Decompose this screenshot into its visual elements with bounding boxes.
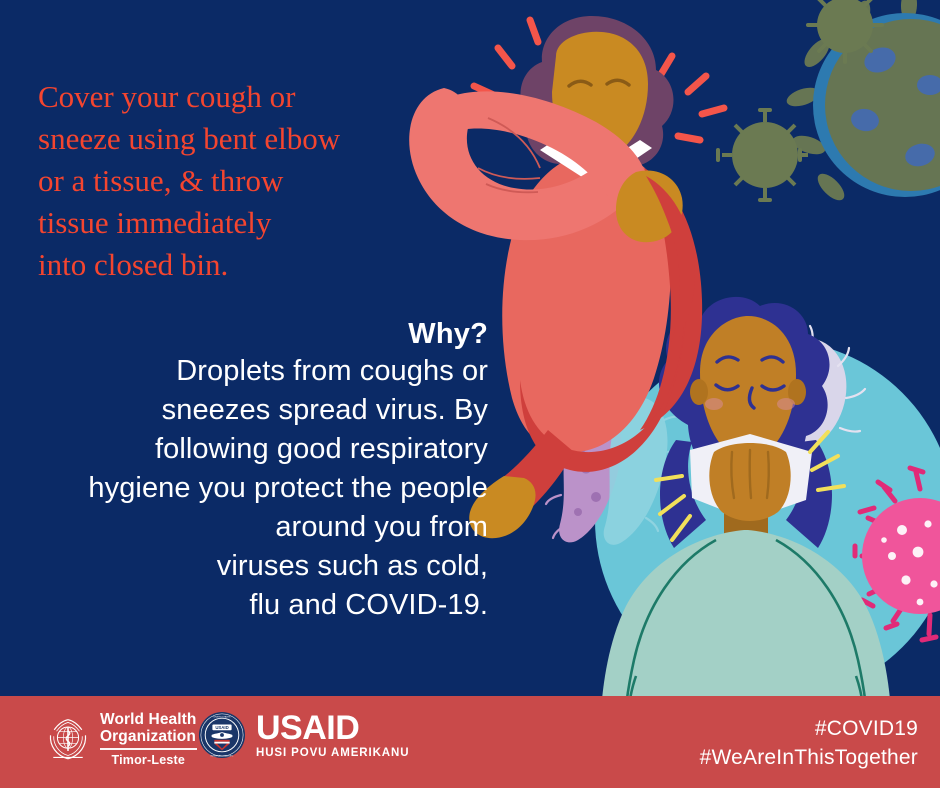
usaid-wordmark: USAID xyxy=(256,711,409,745)
why-label: Why? xyxy=(10,316,488,352)
who-logo: World Health Organization Timor-Leste xyxy=(45,712,197,767)
usaid-logo: USAID UNITED STATES INTERNATIONAL DEV. U… xyxy=(198,711,409,759)
who-country-label: Timor-Leste xyxy=(100,753,197,767)
why-body-text: Droplets from coughs or sneezes spread v… xyxy=(10,352,488,625)
poster: Cover your cough or sneeze using bent el… xyxy=(0,0,940,788)
hashtag-weareinthistogether: #WeAreInThisTogether xyxy=(700,743,918,772)
who-wordmark: World Health Organization Timor-Leste xyxy=(100,712,197,767)
hashtag-covid19: #COVID19 xyxy=(700,714,918,743)
usaid-tagline: HUSI POVU AMERIKANU xyxy=(256,747,409,759)
usaid-wordmark-block: USAID HUSI POVU AMERIKANU xyxy=(256,711,409,759)
who-divider xyxy=(100,748,197,750)
headline-text: Cover your cough or sneeze using bent el… xyxy=(38,76,468,286)
why-block: Why? Droplets from coughs or sneezes spr… xyxy=(10,316,488,625)
who-line1: World Health xyxy=(100,712,197,729)
svg-text:USAID: USAID xyxy=(215,725,228,730)
who-line2: Organization xyxy=(100,729,197,746)
usaid-seal-icon: USAID UNITED STATES INTERNATIONAL DEV. xyxy=(198,711,246,759)
hashtag-block: #COVID19 #WeAreInThisTogether xyxy=(700,714,918,772)
who-emblem-icon xyxy=(45,716,91,762)
